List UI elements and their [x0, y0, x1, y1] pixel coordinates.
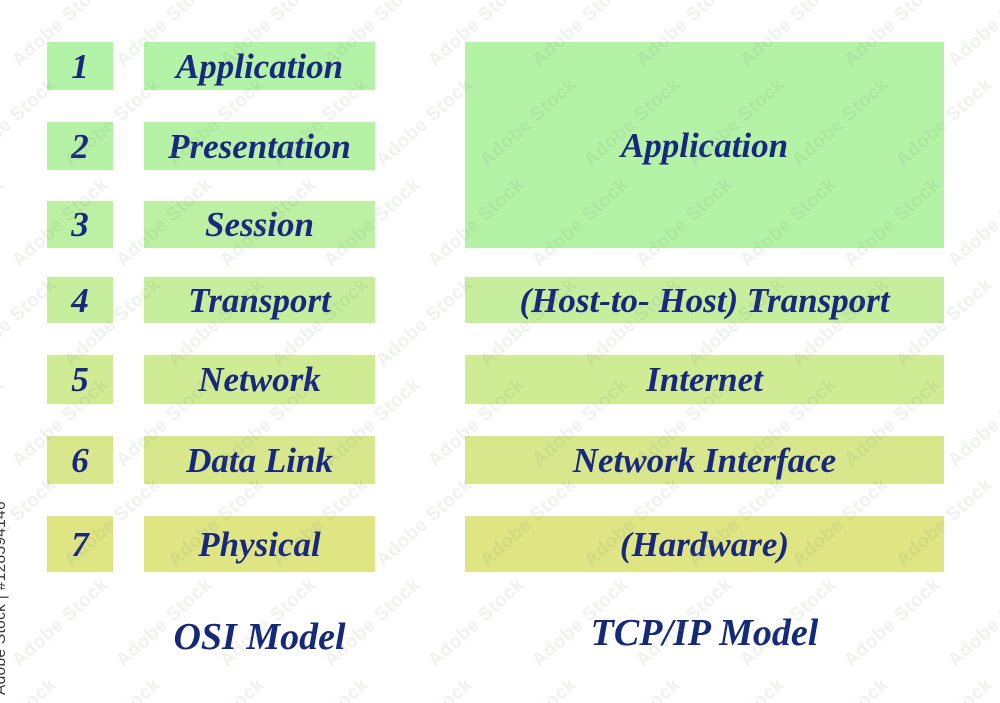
- tcpip-layer-application-label: Application: [621, 128, 788, 163]
- tcpip-layer-network-interface-label: Network Interface: [573, 443, 836, 478]
- tcpip-layer-internet: Internet: [465, 355, 944, 404]
- tcpip-layer-network-interface: Network Interface: [465, 436, 944, 484]
- osi-layer-data-link: Data Link: [144, 436, 375, 484]
- osi-layer-number-2: 2: [47, 122, 113, 170]
- osi-layer-number-1: 1: [47, 42, 113, 90]
- osi-layer-presentation: Presentation: [144, 122, 375, 170]
- osi-layer-number-5-label: 5: [71, 362, 89, 397]
- osi-layer-number-5: 5: [47, 355, 113, 404]
- osi-layer-number-3: 3: [47, 201, 113, 248]
- osi-layer-physical: Physical: [144, 516, 375, 572]
- osi-layer-application: Application: [144, 42, 375, 90]
- osi-layer-network: Network: [144, 355, 375, 404]
- tcpip-layer-internet-label: Internet: [646, 362, 763, 397]
- tcpip-layer-application: Application: [465, 42, 944, 248]
- tcpip-layer-hardware-label: (Hardware): [620, 527, 789, 562]
- diagram-body: 1Application2Presentation3Session4Transp…: [0, 0, 1000, 703]
- osi-layer-number-3-label: 3: [71, 207, 89, 242]
- osi-layer-number-7-label: 7: [71, 527, 89, 562]
- stock-id-strip: Adobe Stock | #128594146: [0, 0, 34, 703]
- osi-layer-transport-label: Transport: [188, 283, 331, 318]
- osi-layer-number-1-label: 1: [71, 49, 89, 84]
- osi-model-caption: OSI Model: [144, 618, 375, 656]
- osi-layer-number-4: 4: [47, 277, 113, 323]
- osi-layer-number-2-label: 2: [71, 129, 89, 164]
- osi-layer-number-6-label: 6: [71, 443, 89, 478]
- osi-tcpip-diagram: 1Application2Presentation3Session4Transp…: [0, 0, 1000, 703]
- osi-layer-physical-label: Physical: [198, 527, 320, 562]
- osi-layer-data-link-label: Data Link: [186, 443, 333, 478]
- osi-layer-application-label: Application: [176, 49, 343, 84]
- tcpip-model-caption: TCP/IP Model: [465, 614, 944, 652]
- osi-layer-presentation-label: Presentation: [168, 129, 351, 164]
- osi-layer-network-label: Network: [198, 362, 321, 397]
- osi-layer-number-6: 6: [47, 436, 113, 484]
- osi-layer-number-4-label: 4: [71, 283, 89, 318]
- osi-layer-session-label: Session: [205, 207, 314, 242]
- osi-layer-transport: Transport: [144, 277, 375, 323]
- tcpip-layer-host-to-host-transport-label: (Host-to- Host) Transport: [519, 283, 889, 318]
- tcpip-layer-hardware: (Hardware): [465, 516, 944, 572]
- tcpip-layer-host-to-host-transport: (Host-to- Host) Transport: [465, 277, 944, 323]
- stock-id-text: Adobe Stock | #128594146: [0, 501, 10, 695]
- osi-layer-number-7: 7: [47, 516, 113, 572]
- osi-layer-session: Session: [144, 201, 375, 248]
